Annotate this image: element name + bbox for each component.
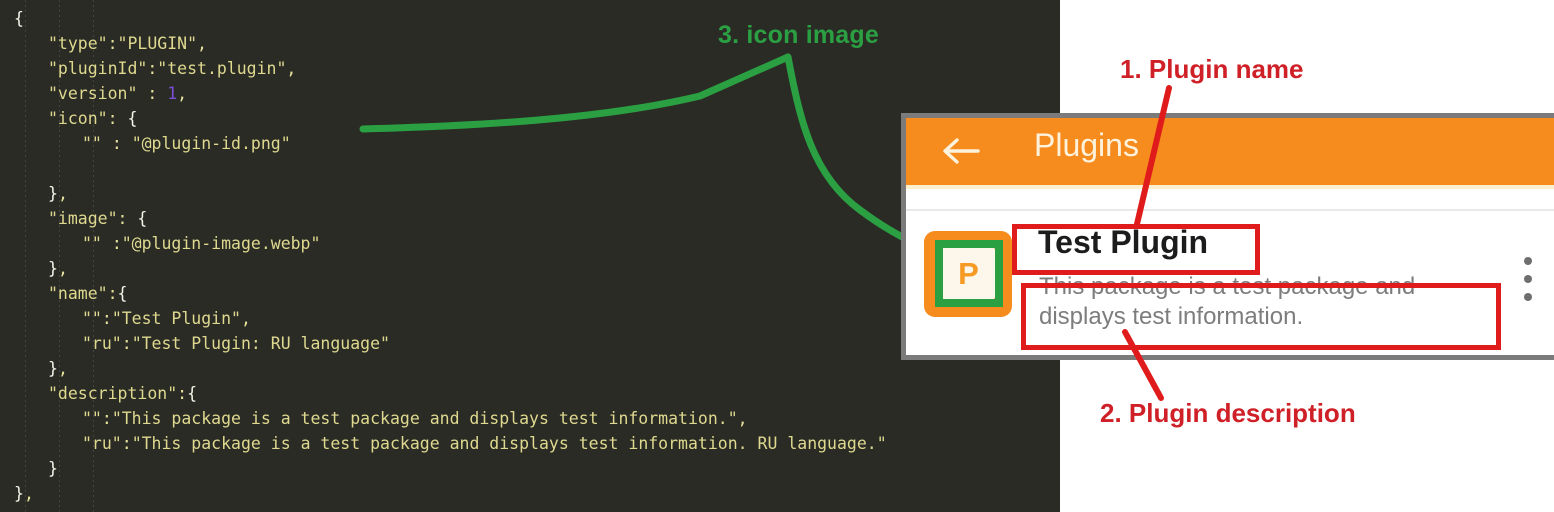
annotation-label-icon-image: 3. icon image: [718, 21, 879, 50]
menu-dot: [1524, 275, 1532, 283]
code-line: "ru":"This package is a test package and…: [0, 431, 1060, 456]
arrow-left-icon[interactable]: [942, 134, 980, 168]
annotation-label-plugin-description: 2. Plugin description: [1100, 398, 1356, 429]
header-spacer: [906, 189, 1554, 209]
highlight-box-plugin-description: [1021, 283, 1501, 350]
code-line: }: [0, 456, 1060, 481]
code-line: {: [0, 6, 1060, 31]
more-vertical-icon[interactable]: [1524, 257, 1532, 301]
menu-dot: [1524, 293, 1532, 301]
plugin-icon: P: [924, 231, 1012, 317]
highlight-box-plugin-name: [1012, 224, 1260, 275]
code-line: "description":{: [0, 381, 1060, 406]
green-highlight-box: [935, 240, 1003, 307]
page-title: Plugins: [1034, 127, 1139, 164]
code-line: },: [0, 481, 1060, 506]
code-line: "type":"PLUGIN",: [0, 31, 1060, 56]
code-line: "version" : 1,: [0, 81, 1060, 106]
screenshot-root: {"type":"PLUGIN","pluginId":"test.plugin…: [0, 0, 1554, 512]
code-line: "":"This package is a test package and d…: [0, 406, 1060, 431]
annotation-label-plugin-name: 1. Plugin name: [1120, 54, 1304, 85]
app-header-bar: Plugins: [906, 118, 1554, 185]
code-line: "pluginId":"test.plugin",: [0, 56, 1060, 81]
menu-dot: [1524, 257, 1532, 265]
